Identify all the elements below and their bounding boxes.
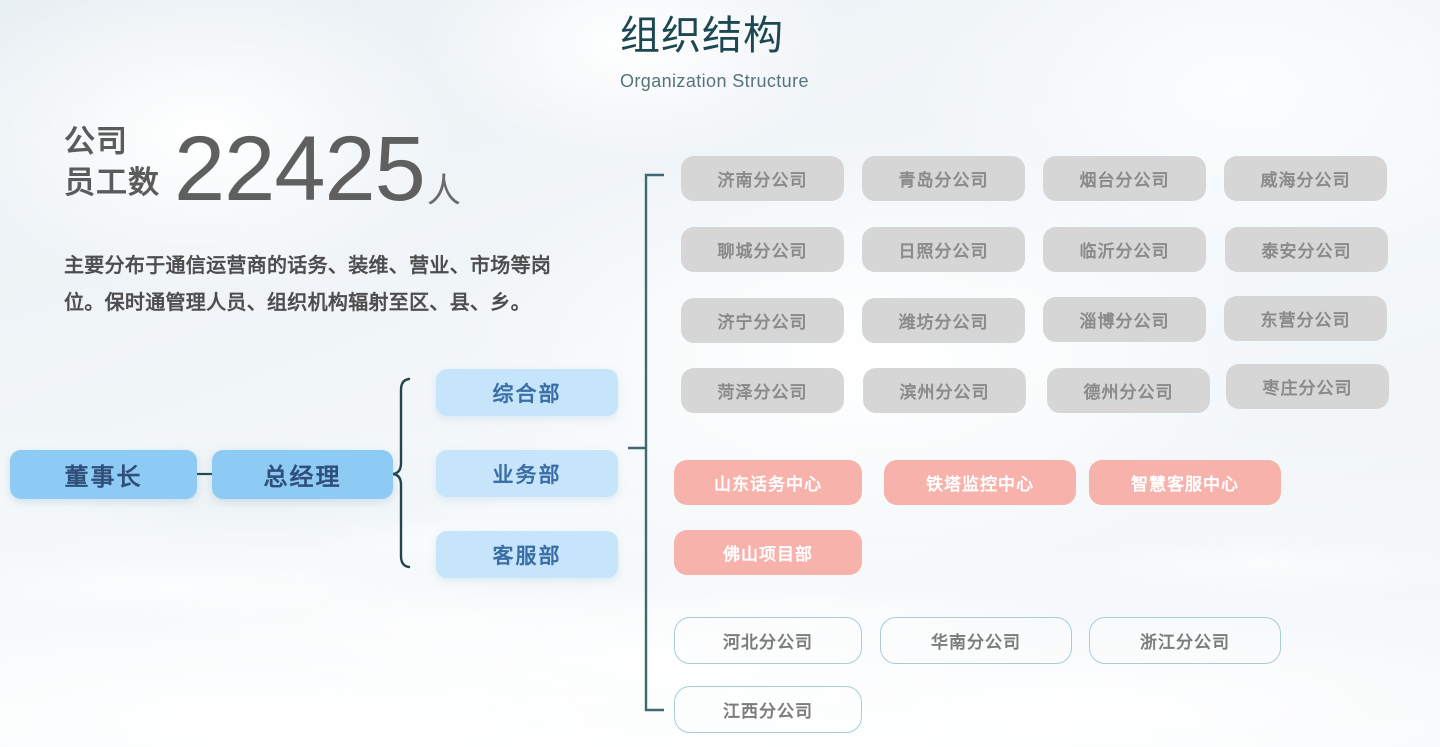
node-branch[interactable]: 日照分公司 (862, 227, 1025, 272)
employee-stat-label-line2: 员工数 (64, 163, 160, 204)
node-branch[interactable]: 滨州分公司 (863, 368, 1026, 413)
node-branch[interactable]: 德州分公司 (1047, 368, 1210, 413)
employee-stat-label: 公司 员工数 (64, 122, 160, 212)
node-branch[interactable]: 烟台分公司 (1043, 156, 1206, 201)
node-branch[interactable]: 潍坊分公司 (862, 298, 1025, 343)
node-outside-branch[interactable]: 华南分公司 (880, 617, 1072, 664)
employee-count: 22425 (174, 127, 425, 212)
page-subtitle: Organization Structure (620, 71, 809, 92)
node-branch[interactable]: 临沂分公司 (1043, 227, 1206, 272)
node-branch[interactable]: 菏泽分公司 (681, 368, 844, 413)
node-branch[interactable]: 淄博分公司 (1043, 297, 1206, 342)
node-branch[interactable]: 威海分公司 (1224, 156, 1387, 201)
employee-count-unit: 人 (427, 163, 461, 212)
node-branch[interactable]: 济宁分公司 (681, 298, 844, 343)
node-branch[interactable]: 济南分公司 (681, 156, 844, 201)
node-chairman[interactable]: 董事长 (10, 450, 197, 499)
node-branch[interactable]: 枣庄分公司 (1226, 364, 1389, 409)
employee-description: 主要分布于通信运营商的话务、装维、营业、市场等岗位。保时通管理人员、组织机构辐射… (64, 248, 564, 322)
node-branch[interactable]: 聊城分公司 (681, 227, 844, 272)
node-center[interactable]: 铁塔监控中心 (884, 460, 1076, 505)
employee-stat: 公司 员工数 22425 人 (64, 122, 461, 212)
node-center[interactable]: 智慧客服中心 (1089, 460, 1281, 505)
employee-stat-label-line1: 公司 (64, 122, 160, 163)
node-department-business[interactable]: 业务部 (436, 450, 618, 497)
node-branch[interactable]: 泰安分公司 (1225, 227, 1388, 272)
node-general-manager[interactable]: 总经理 (212, 450, 393, 499)
slide-content: 组织结构 Organization Structure 公司 员工数 22425… (0, 0, 1440, 747)
node-center[interactable]: 佛山项目部 (674, 530, 862, 575)
node-branch[interactable]: 东营分公司 (1224, 296, 1387, 341)
page-header: 组织结构 Organization Structure (620, 12, 809, 92)
node-outside-branch[interactable]: 江西分公司 (674, 686, 862, 733)
node-center[interactable]: 山东话务中心 (674, 460, 862, 505)
node-outside-branch[interactable]: 河北分公司 (674, 617, 862, 664)
page-title: 组织结构 (620, 12, 809, 61)
node-department-general-affairs[interactable]: 综合部 (436, 369, 618, 416)
node-outside-branch[interactable]: 浙江分公司 (1089, 617, 1281, 664)
node-branch[interactable]: 青岛分公司 (862, 156, 1025, 201)
node-department-customer-service[interactable]: 客服部 (436, 531, 618, 578)
